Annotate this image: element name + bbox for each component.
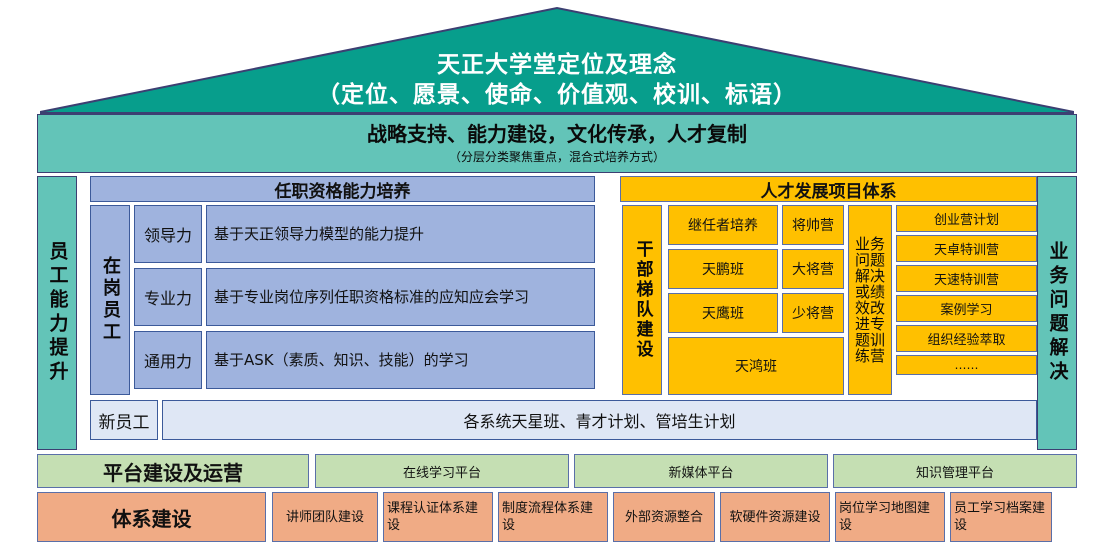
platform-row-title: 平台建设及运营 — [37, 454, 309, 488]
talent-program-cell: 创业营计划 — [896, 205, 1037, 232]
system-cell: 外部资源整合 — [613, 492, 715, 542]
qualification-row: 专业力 基于专业岗位序列任职资格标准的应知应会学习 — [134, 268, 595, 326]
talent-cell: 天鹰班 — [668, 293, 778, 333]
qualification-row-label: 领导力 — [134, 205, 202, 263]
roof-banner: 天正大学堂定位及理念 （定位、愿景、使命、价值观、校训、标语） — [40, 6, 1074, 114]
system-cell: 课程认证体系建设 — [383, 492, 493, 542]
system-row: 体系建设 讲师团队建设 课程认证体系建设 制度流程体系建设 外部资源整合 软硬件… — [37, 492, 1077, 542]
new-employee-desc: 各系统天星班、青才计划、管培生计划 — [162, 400, 1037, 440]
right-column-business-problem: 业务问题解决 — [1037, 176, 1077, 450]
roof-shape — [40, 6, 1074, 114]
strategy-band-sub: （分层分类聚焦重点，混合式培养方式） — [449, 149, 665, 165]
left-column-employee-capability: 员工能力提升 — [37, 176, 77, 450]
talent-cell: 大将营 — [782, 249, 844, 289]
system-cell: 讲师团队建设 — [272, 492, 378, 542]
talent-program-cell: 天卓特训营 — [896, 235, 1037, 262]
new-employee-label: 新员工 — [90, 400, 158, 440]
platform-cell: 新媒体平台 — [574, 454, 828, 488]
qualification-row-desc: 基于天正领导力模型的能力提升 — [206, 205, 595, 263]
cadre-echelon-label: 干部梯队建设 — [634, 240, 651, 360]
qualification-row-label: 专业力 — [134, 268, 202, 326]
talent-program-cell: …… — [896, 355, 1037, 375]
platform-cell: 知识管理平台 — [833, 454, 1077, 488]
qualification-panel-title: 任职资格能力培养 — [90, 176, 595, 202]
roof-polygon — [40, 8, 1074, 113]
system-cell: 岗位学习地图建设 — [835, 492, 945, 542]
platform-cell: 在线学习平台 — [315, 454, 569, 488]
right-column-label: 业务问题解决 — [1048, 241, 1067, 385]
cadre-echelon-group: 干部梯队建设 — [622, 205, 662, 395]
qualification-row-desc: 基于ASK（素质、知识、技能）的学习 — [206, 331, 595, 389]
on-job-employee-label: 在岗员工 — [101, 256, 119, 344]
new-employee-row: 新员工 各系统天星班、青才计划、管培生计划 — [90, 400, 1037, 440]
qualification-rows: 领导力 基于天正领导力模型的能力提升 专业力 基于专业岗位序列任职资格标准的应知… — [134, 205, 595, 395]
system-row-title: 体系建设 — [37, 492, 266, 542]
on-job-employee-group: 在岗员工 — [90, 205, 130, 395]
qualification-row: 通用力 基于ASK（素质、知识、技能）的学习 — [134, 331, 595, 389]
platform-row: 平台建设及运营 在线学习平台 新媒体平台 知识管理平台 — [37, 454, 1077, 488]
talent-cell: 天鸿班 — [668, 337, 844, 395]
talent-cell: 天鹏班 — [668, 249, 778, 289]
talent-program-stack: 创业营计划 天卓特训营 天速特训营 案例学习 组织经验萃取 …… — [896, 205, 1037, 395]
qualification-row: 领导力 基于天正领导力模型的能力提升 — [134, 205, 595, 263]
middle-region: 员工能力提升 业务问题解决 任职资格能力培养 在岗员工 领导力 基于天正领导力模… — [37, 176, 1077, 450]
qualification-row-label: 通用力 — [134, 331, 202, 389]
talent-program-cell: 组织经验萃取 — [896, 325, 1037, 352]
talent-cell: 继任者培养 — [668, 205, 778, 245]
diagram-root: 天正大学堂定位及理念 （定位、愿景、使命、价值观、校训、标语） 战略支持、能力建… — [0, 0, 1114, 551]
system-cell: 软硬件资源建设 — [720, 492, 830, 542]
business-problem-training-label: 业务问题解决或绩效改进专题训练营 — [852, 236, 888, 364]
talent-cell: 少将营 — [782, 293, 844, 333]
talent-program-cell: 天速特训营 — [896, 265, 1037, 292]
talent-cell: 将帅营 — [782, 205, 844, 245]
system-cell: 制度流程体系建设 — [498, 492, 608, 542]
left-column-label: 员工能力提升 — [48, 241, 67, 385]
strategy-band: 战略支持、能力建设，文化传承，人才复制 （分层分类聚焦重点，混合式培养方式） — [37, 114, 1077, 173]
strategy-band-main: 战略支持、能力建设，文化传承，人才复制 — [367, 122, 747, 147]
talent-development-title: 人才发展项目体系 — [620, 176, 1037, 202]
system-cell: 员工学习档案建设 — [950, 492, 1052, 542]
business-problem-training-group: 业务问题解决或绩效改进专题训练营 — [848, 205, 892, 395]
qualification-row-desc: 基于专业岗位序列任职资格标准的应知应会学习 — [206, 268, 595, 326]
talent-program-cell: 案例学习 — [896, 295, 1037, 322]
